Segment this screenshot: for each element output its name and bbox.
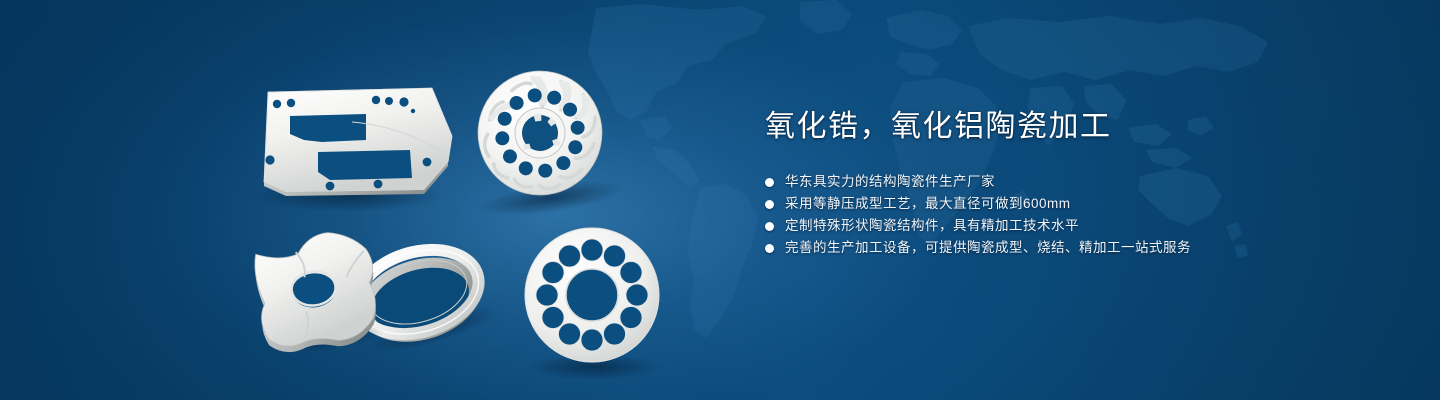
- page-title: 氧化锆，氧化铝陶瓷加工: [765, 108, 1385, 146]
- bullet-dot-icon: [765, 178, 774, 187]
- feature-text: 定制特殊形状陶瓷结构件，具有精加工技术水平: [785, 215, 1079, 237]
- copy-block: 氧化锆，氧化铝陶瓷加工 华东具实力的结构陶瓷件生产厂家 采用等静压成型工艺，最大…: [765, 108, 1385, 259]
- bullet-dot-icon: [765, 200, 774, 209]
- product-graphics: [0, 0, 720, 400]
- bullet-dot-icon: [765, 222, 774, 231]
- hero-banner: 氧化锆，氧化铝陶瓷加工 华东具实力的结构陶瓷件生产厂家 采用等静压成型工艺，最大…: [0, 0, 1440, 400]
- ceramic-impeller-part: [462, 61, 624, 222]
- bullet-dot-icon: [765, 244, 774, 253]
- list-item: 华东具实力的结构陶瓷件生产厂家: [765, 171, 1385, 193]
- ceramic-perforated-disc-part: [525, 228, 662, 380]
- feature-text: 采用等静压成型工艺，最大直径可做到600mm: [785, 193, 1071, 215]
- feature-text: 完善的生产加工设备，可提供陶瓷成型、烧结、精加工一站式服务: [785, 237, 1191, 259]
- list-item: 定制特殊形状陶瓷结构件，具有精加工技术水平: [765, 215, 1385, 237]
- ceramic-cross-part: [252, 228, 386, 357]
- list-item: 采用等静压成型工艺，最大直径可做到600mm: [765, 193, 1385, 215]
- list-item: 完善的生产加工设备，可提供陶瓷成型、烧结、精加工一站式服务: [765, 237, 1385, 259]
- feature-text: 华东具实力的结构陶瓷件生产厂家: [785, 171, 995, 193]
- feature-list: 华东具实力的结构陶瓷件生产厂家 采用等静压成型工艺，最大直径可做到600mm 定…: [765, 171, 1385, 259]
- ceramic-plate-part: [252, 88, 452, 212]
